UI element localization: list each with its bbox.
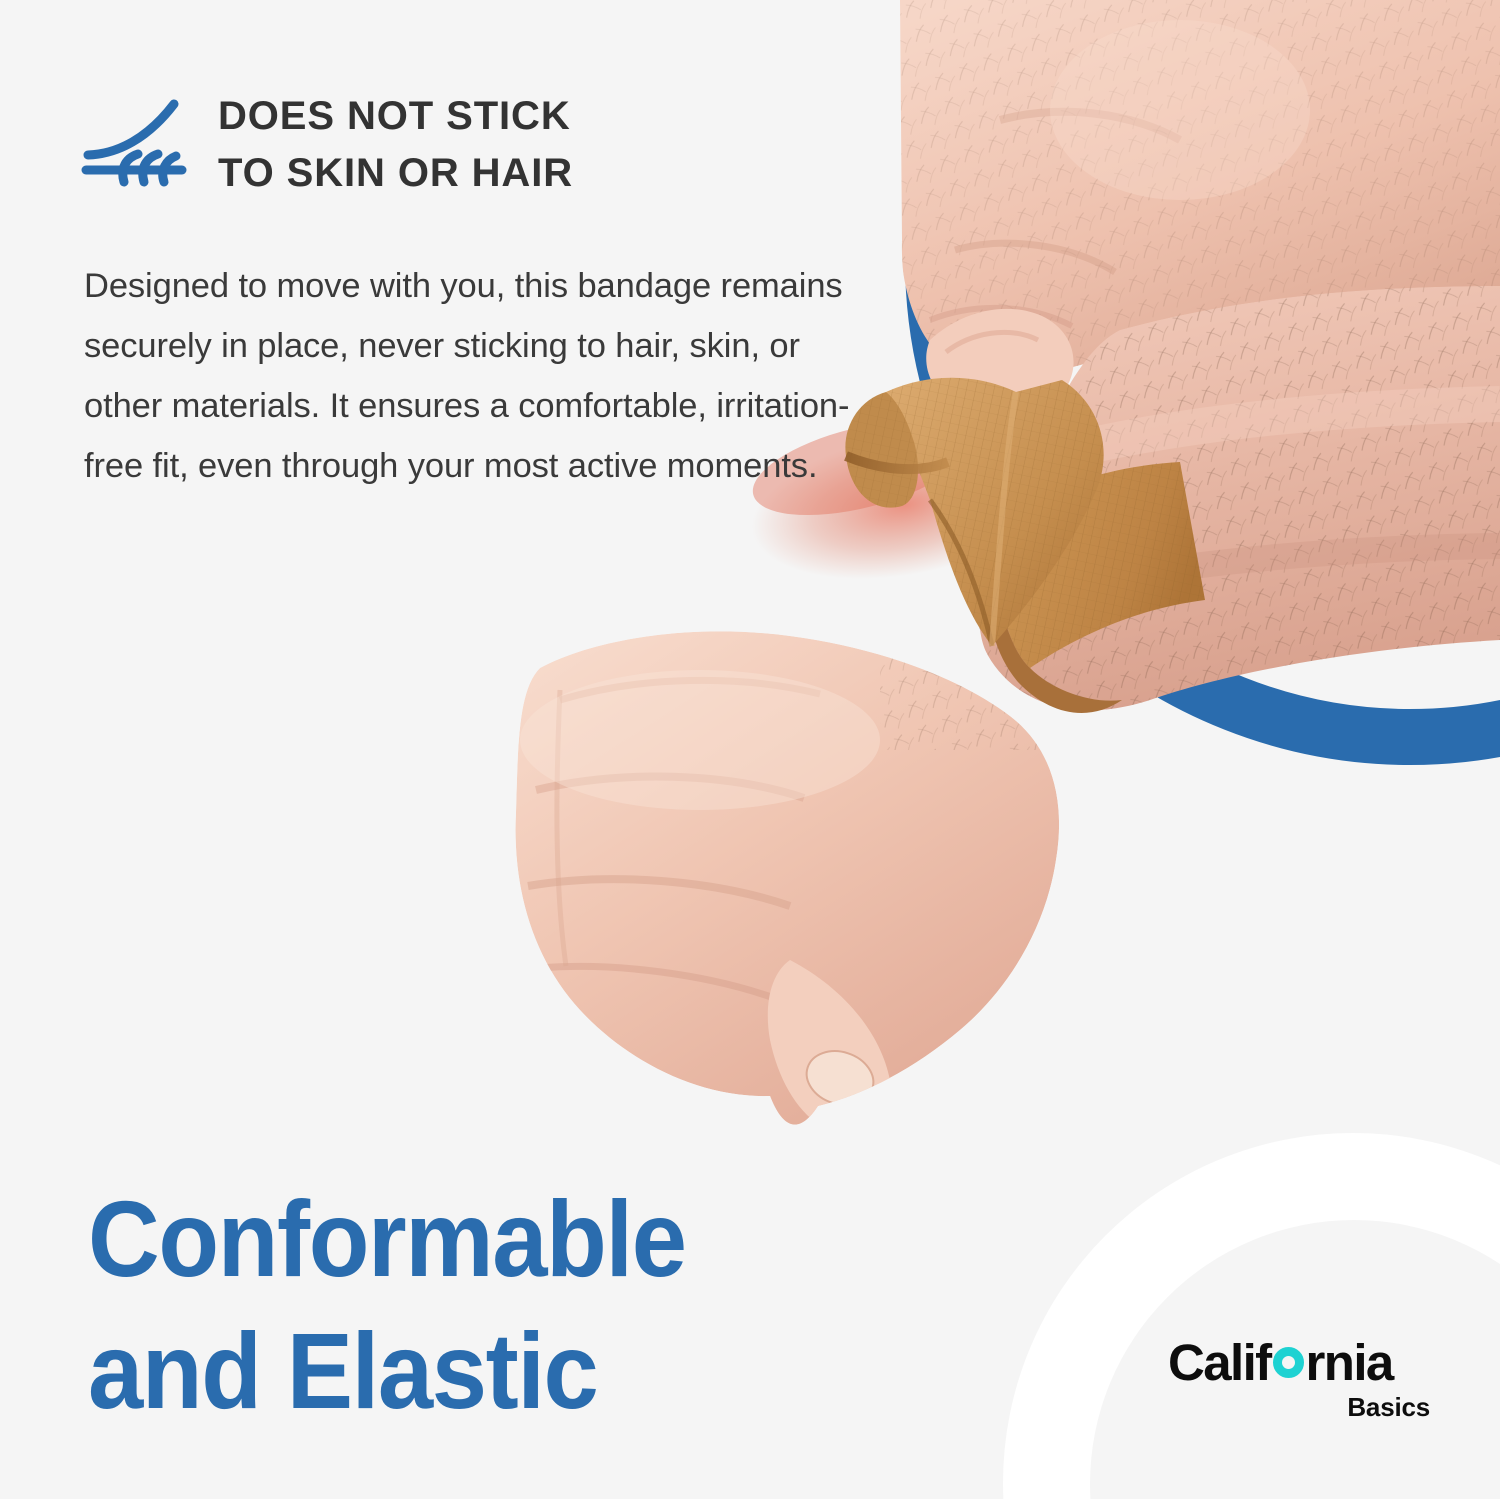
brand-logo: Calif rnia Basics (1168, 1337, 1430, 1420)
brand-accent-o-icon (1273, 1347, 1304, 1378)
product-feature-banner: DOES NOT STICK TO SKIN OR HAIR Designed … (0, 0, 1500, 1499)
page-title: Conformable and Elastic (88, 1173, 879, 1437)
blue-ring-decoration (905, 0, 1500, 765)
feature-description: Designed to move with you, this bandage … (84, 256, 854, 496)
brand-wordmark: Calif rnia (1168, 1337, 1430, 1388)
feature-badge: DOES NOT STICK TO SKIN OR HAIR (78, 88, 573, 202)
non-stick-bandage-over-hair-icon (78, 94, 190, 190)
brand-word-part-2: rnia (1306, 1337, 1393, 1388)
brand-tagline: Basics (1168, 1394, 1430, 1420)
feature-title: DOES NOT STICK TO SKIN OR HAIR (218, 88, 573, 202)
brand-word-part-1: Calif (1168, 1337, 1271, 1388)
